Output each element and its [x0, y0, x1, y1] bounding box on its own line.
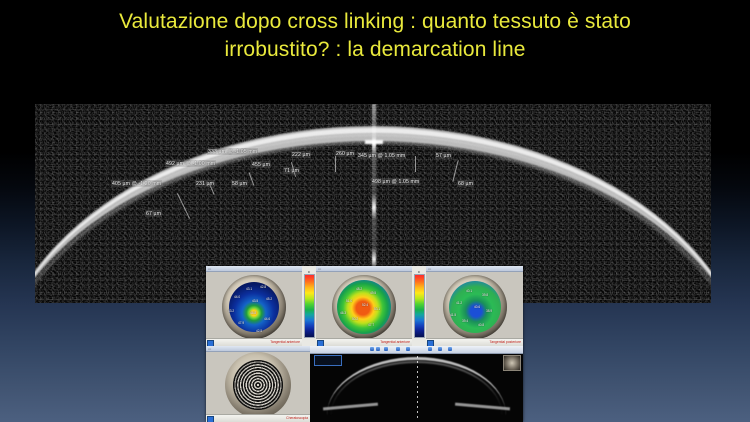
- scale-unit-label: D: [415, 270, 424, 274]
- topo-value: 44.0: [234, 296, 240, 299]
- measure-tick: [335, 156, 336, 172]
- axis-crosshair: [417, 351, 418, 421]
- topography-map-pachymetry[interactable]: ▫▫▫ 40.1 39.8 41.2 40.6 38.9 39.4 40.8 4…: [426, 266, 523, 346]
- oct-measurement-label: 222 µm: [291, 151, 311, 158]
- topo-value: 41.2: [456, 302, 462, 305]
- window-titlebar: ▫▫▫: [206, 266, 302, 272]
- topo-value: 43.2: [228, 310, 234, 313]
- window-menu-icon: ▫▫▫: [318, 267, 321, 271]
- map-caption: Tangential anteriore: [380, 340, 410, 344]
- map-caption: Tangential anteriore: [270, 340, 300, 344]
- topo-value: 43.5: [252, 300, 258, 303]
- toolbar-icon[interactable]: [406, 347, 410, 351]
- window-menu-icon: ▫▫▫: [208, 267, 211, 271]
- topo-value: 38.9: [486, 310, 492, 313]
- topography-map-sagittal[interactable]: ▫▫▫ 43.1 42.8 44.0 43.5 45.2 46.8 47.9 4…: [206, 266, 302, 346]
- oct-measurement-label: 260 µm: [335, 150, 355, 157]
- oct-measurement-label: 231 µm: [195, 180, 215, 187]
- oct-measurement-label: 492 µm @ -1.00 mm: [165, 160, 216, 167]
- oct-measurement-label: 57 µm: [435, 152, 452, 159]
- toolbar-icon[interactable]: [438, 347, 442, 351]
- scale-unit-label: D: [305, 270, 314, 274]
- map-caption: Tangential posteriore: [490, 340, 521, 344]
- topography-map-elevation[interactable]: ▫▫▫ 48.2 49.5 51.0 52.4 53.1 50.2 47.7 4…: [316, 266, 412, 346]
- topo-value: 47.7: [368, 324, 374, 327]
- topo-value: 43.1: [246, 288, 252, 291]
- toolbar-icon[interactable]: [384, 347, 388, 351]
- topo-value: 40.8: [478, 324, 484, 327]
- collage-row-top: ▫▫▫ 43.1 42.8 44.0 43.5 45.2 46.8 47.9 4…: [206, 266, 523, 346]
- window-statusbar: Tangential anteriore: [206, 338, 302, 346]
- topo-value: 52.4: [362, 304, 368, 307]
- color-scale-right: D: [412, 266, 426, 346]
- window-titlebar: ▫▫▫: [316, 266, 412, 272]
- topo-value: 42.8: [260, 286, 266, 289]
- topo-value: 50.2: [352, 318, 358, 321]
- map-caption: Cheratoscopia: [286, 416, 308, 420]
- topo-value: 47.9: [238, 322, 244, 325]
- topo-value: 51.0: [346, 300, 352, 303]
- topo-value: 42.5: [256, 330, 262, 333]
- oct-measurement-label: 71 µm: [283, 167, 300, 174]
- oct-measurement-label: 345 µm @ 1.05 mm: [357, 152, 406, 159]
- topo-value: 41.5: [450, 314, 456, 317]
- placido-disc-image[interactable]: ▫▫▫ Cheratoscopia: [206, 346, 310, 422]
- topography-color-map: [229, 282, 279, 332]
- topo-value: 40.1: [466, 290, 472, 293]
- asoct-viewport: [310, 346, 523, 422]
- topo-value: 53.1: [374, 308, 380, 311]
- window-statusbar: Tangential anteriore: [316, 338, 412, 346]
- topo-value: 40.6: [474, 306, 480, 309]
- window-titlebar: ▫▫▫: [426, 266, 523, 272]
- window-menu-icon: ▫▫▫: [208, 347, 211, 351]
- window-statusbar: Cheratoscopia: [206, 414, 310, 422]
- measure-tick: [415, 156, 416, 172]
- topo-value: 39.4: [462, 320, 468, 323]
- toolbar-icon[interactable]: [428, 347, 432, 351]
- collage-row-bottom: ▫▫▫ Cheratoscopia: [206, 346, 523, 422]
- toolbar-icon[interactable]: [376, 347, 380, 351]
- oct-measurement-label: 67 µm: [145, 210, 162, 217]
- dioptre-color-scale: D: [304, 274, 315, 338]
- asoct-toolbar[interactable]: [310, 346, 523, 354]
- oct-measurement-label: 498 µm @ 1.05 mm: [371, 178, 420, 185]
- topo-value: 46.8: [250, 312, 256, 315]
- topo-value: 48.2: [356, 288, 362, 291]
- topo-value: 44.6: [264, 318, 270, 321]
- slide-canvas: Valutazione dopo cross linking : quanto …: [0, 0, 750, 422]
- window-menu-icon: ▫▫▫: [428, 267, 431, 271]
- placido-rings: [233, 360, 283, 410]
- oct-measurement-label: 68 µm: [457, 180, 474, 187]
- eye-thumbnail: [503, 355, 521, 371]
- topo-value: 49.5: [370, 292, 376, 295]
- specular-apex-highlight: [365, 140, 383, 144]
- dioptre-color-scale: D: [414, 274, 425, 338]
- oct-measurement-label: 58 µm: [231, 180, 248, 187]
- toolbar-icon[interactable]: [396, 347, 400, 351]
- topo-value: 45.2: [266, 298, 272, 301]
- app-icon: [207, 416, 214, 422]
- color-scale-left: D: [302, 266, 316, 346]
- oct-measurement-label: 455 µm: [251, 161, 271, 168]
- oct-measurement-label: 405 µm @ -1.20 mm: [111, 180, 162, 187]
- page-title: Valutazione dopo cross linking : quanto …: [0, 8, 750, 64]
- topo-value: 39.8: [482, 294, 488, 297]
- anterior-segment-oct-panel[interactable]: [310, 346, 523, 422]
- roi-box: [314, 355, 342, 366]
- topo-value: 46.3: [340, 312, 346, 315]
- toolbar-icon[interactable]: [370, 347, 374, 351]
- oct-measurement-label: 333 µm @ -1.05 mm: [207, 148, 258, 155]
- pentacam-topography-collage: ▫▫▫ 43.1 42.8 44.0 43.5 45.2 46.8 47.9 4…: [206, 266, 523, 422]
- toolbar-icon[interactable]: [448, 347, 452, 351]
- window-statusbar: Tangential posteriore: [426, 338, 523, 346]
